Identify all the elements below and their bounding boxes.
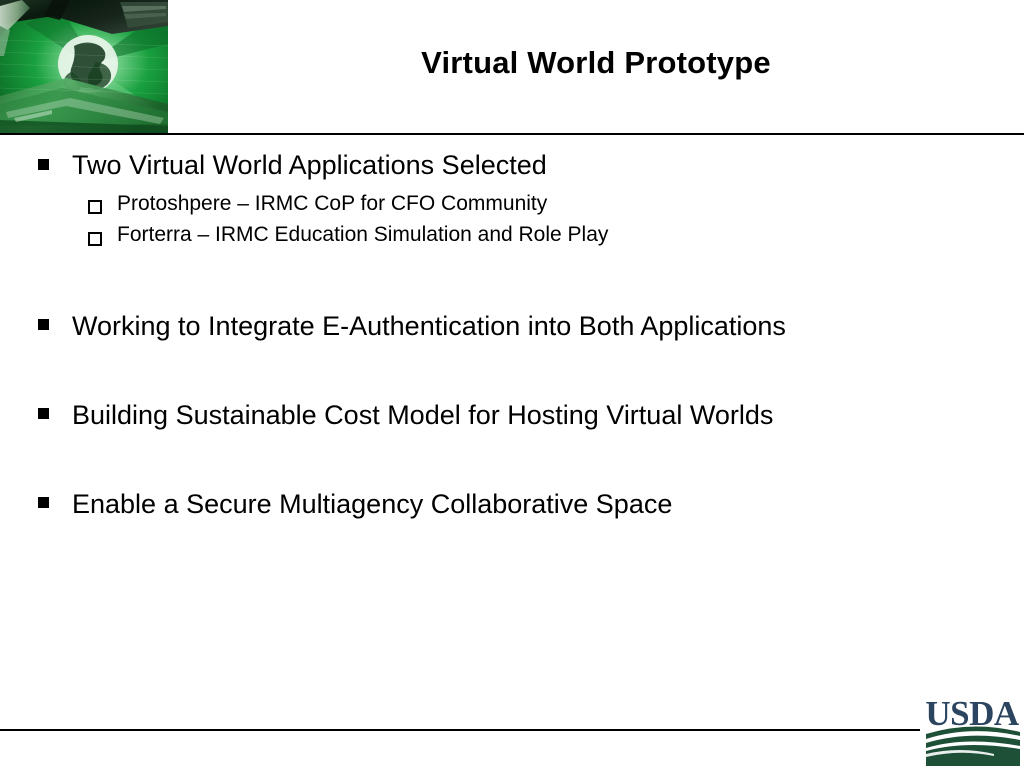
bullet-text: Forterra – IRMC Education Simulation and… bbox=[117, 222, 1024, 248]
hollow-square-bullet-icon bbox=[88, 222, 117, 254]
usda-logo: USDA bbox=[920, 692, 1024, 768]
page-title: Virtual World Prototype bbox=[168, 46, 1024, 80]
filled-square-bullet-icon bbox=[38, 489, 72, 518]
bullet-group-4: Enable a Secure Multiagency Collaborativ… bbox=[0, 489, 1024, 521]
bullet-item-level1: Two Virtual World Applications Selected bbox=[0, 150, 1024, 182]
bullet-item-level1: Working to Integrate E-Authentication in… bbox=[0, 311, 1024, 343]
green-globe-radar-graphic bbox=[0, 0, 168, 133]
filled-square-bullet-icon bbox=[38, 400, 72, 429]
slide-body: Two Virtual World Applications Selected … bbox=[0, 150, 1024, 710]
filled-square-bullet-icon bbox=[38, 150, 72, 179]
green-globe-radar-image bbox=[0, 0, 168, 133]
bullet-group-1: Two Virtual World Applications Selected … bbox=[0, 150, 1024, 254]
slide: Virtual World Prototype Two Virtual Worl… bbox=[0, 0, 1024, 768]
bullet-text: Enable a Secure Multiagency Collaborativ… bbox=[72, 489, 1024, 521]
bullet-text: Protoshpere – IRMC CoP for CFO Community bbox=[117, 191, 1024, 217]
bullet-item-level1: Enable a Secure Multiagency Collaborativ… bbox=[0, 489, 1024, 521]
filled-square-bullet-icon bbox=[38, 311, 72, 340]
bullet-text: Building Sustainable Cost Model for Host… bbox=[72, 400, 1024, 432]
bullet-group-3: Building Sustainable Cost Model for Host… bbox=[0, 400, 1024, 432]
footer-divider bbox=[0, 729, 920, 731]
bullet-text: Two Virtual World Applications Selected bbox=[72, 150, 1024, 182]
header-divider bbox=[0, 133, 1024, 135]
bullet-item-level1: Building Sustainable Cost Model for Host… bbox=[0, 400, 1024, 432]
bullet-item-level2: Forterra – IRMC Education Simulation and… bbox=[0, 222, 1024, 254]
bullet-text: Working to Integrate E-Authentication in… bbox=[72, 311, 1024, 343]
hollow-square-bullet-icon bbox=[88, 191, 117, 223]
usda-logo-graphic: USDA bbox=[920, 692, 1024, 768]
bullet-item-level2: Protoshpere – IRMC CoP for CFO Community bbox=[0, 191, 1024, 223]
bullet-group-2: Working to Integrate E-Authentication in… bbox=[0, 311, 1024, 343]
